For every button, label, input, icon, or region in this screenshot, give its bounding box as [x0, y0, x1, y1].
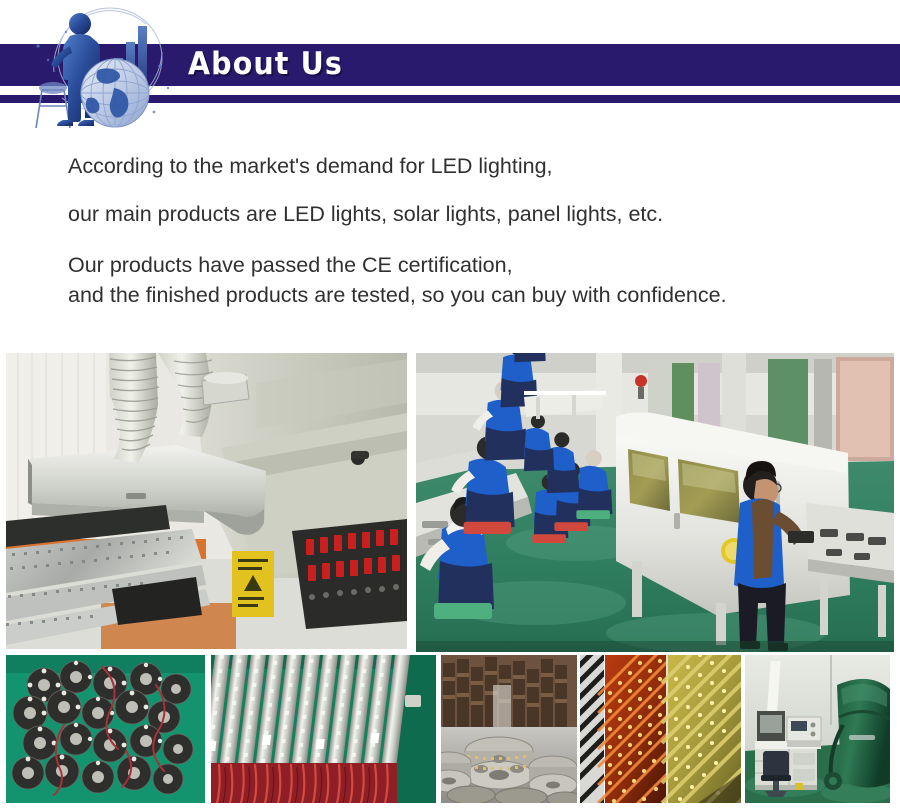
photo-reflow-oven: [6, 353, 407, 649]
photo-test-room: [745, 655, 890, 803]
page-banner: About Us: [0, 0, 900, 140]
about-us-description: According to the market's demand for LED…: [68, 152, 888, 310]
photo-led-discs: [6, 655, 205, 803]
photo-led-reels: [441, 655, 577, 803]
photo-assembly: [416, 353, 894, 652]
about-us-page: About Us According to the market's deman…: [0, 0, 900, 808]
description-line-3: Our products have passed the CE certific…: [68, 251, 888, 279]
description-line-1: According to the market's demand for LED…: [68, 152, 888, 180]
description-line-2: our main products are LED lights, solar …: [68, 200, 888, 228]
photo-led-strips: [580, 655, 741, 803]
photo-led-tubes: [211, 655, 436, 803]
description-line-4: and the finished products are tested, so…: [68, 281, 888, 309]
page-title: About Us: [188, 47, 343, 81]
business-person-globe-chart-icon: [18, 2, 183, 134]
